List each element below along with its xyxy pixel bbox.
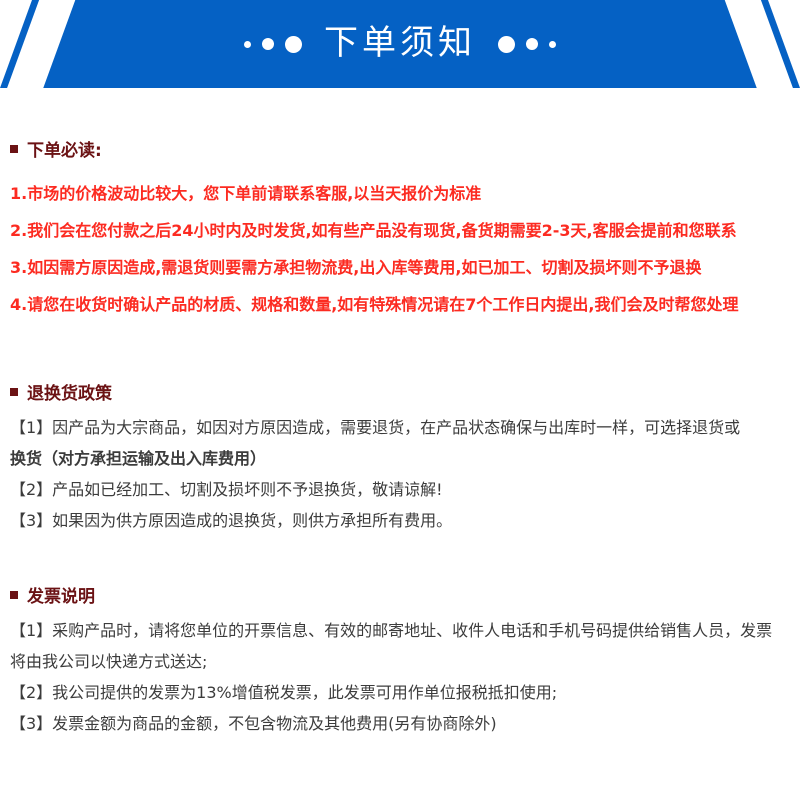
square-bullet-icon	[10, 591, 18, 599]
square-bullet-icon	[10, 145, 18, 153]
page-header-banner: 下单须知	[0, 0, 800, 88]
banner-content: 下单须知	[0, 0, 800, 88]
list-item-continuation: 换货（对方承担运输及出入库费用）	[10, 443, 790, 474]
invoice-list: 【1】采购产品时，请将您单位的开票信息、有效的邮寄地址、收件人电话和手机号码提供…	[10, 615, 790, 739]
banner-dots-right	[498, 36, 556, 53]
list-item: 【2】产品如已经加工、切割及损坏则不予退换货，敬请谅解!	[10, 474, 790, 505]
list-item: 【2】我公司提供的发票为13%增值税发票，此发票可用作单位报税抵扣使用;	[10, 677, 790, 708]
list-item: 2.我们会在您付款之后24小时内及时发货,如有些产品没有现货,备货期需要2-3天…	[10, 212, 790, 249]
section-heading-invoice: 发票说明	[10, 582, 790, 607]
section-heading-return-policy: 退换货政策	[10, 379, 790, 404]
dot-large-icon	[498, 36, 515, 53]
must-read-list: 1.市场的价格波动比较大，您下单前请联系客服,以当天报价为标准 2.我们会在您付…	[10, 175, 790, 323]
list-item: 3.如因需方原因造成,需退货则要需方承担物流费,出入库等费用,如已加工、切割及损…	[10, 249, 790, 286]
list-item: 【3】发票金额为商品的金额，不包含物流及其他费用(另有协商除外)	[10, 708, 790, 739]
page-content: 下单必读: 1.市场的价格波动比较大，您下单前请联系客服,以当天报价为标准 2.…	[0, 136, 800, 739]
dot-small-icon	[244, 41, 251, 48]
list-item: 【3】如果因为供方原因造成的退换货，则供方承担所有费用。	[10, 505, 790, 536]
dot-small-icon	[549, 41, 556, 48]
section-heading-label: 下单必读:	[27, 136, 102, 161]
dot-large-icon	[285, 36, 302, 53]
section-heading-label: 发票说明	[27, 582, 95, 607]
list-item: 4.请您在收货时确认产品的材质、规格和数量,如有特殊情况请在7个工作日内提出,我…	[10, 286, 790, 323]
list-item: 【1】因产品为大宗商品，如因对方原因造成，需要退货，在产品状态确保与出库时一样，…	[10, 412, 790, 443]
list-item-continuation: 将由我公司以快递方式送达;	[10, 646, 790, 677]
page-title: 下单须知	[324, 26, 476, 62]
banner-dots-left	[244, 36, 302, 53]
square-bullet-icon	[10, 388, 18, 396]
section-heading-must-read: 下单必读:	[10, 136, 790, 161]
dot-medium-icon	[526, 38, 538, 50]
dot-medium-icon	[262, 38, 274, 50]
list-item: 1.市场的价格波动比较大，您下单前请联系客服,以当天报价为标准	[10, 175, 790, 212]
section-heading-label: 退换货政策	[27, 379, 112, 404]
return-policy-list: 【1】因产品为大宗商品，如因对方原因造成，需要退货，在产品状态确保与出库时一样，…	[10, 412, 790, 536]
list-item: 【1】采购产品时，请将您单位的开票信息、有效的邮寄地址、收件人电话和手机号码提供…	[10, 615, 790, 646]
